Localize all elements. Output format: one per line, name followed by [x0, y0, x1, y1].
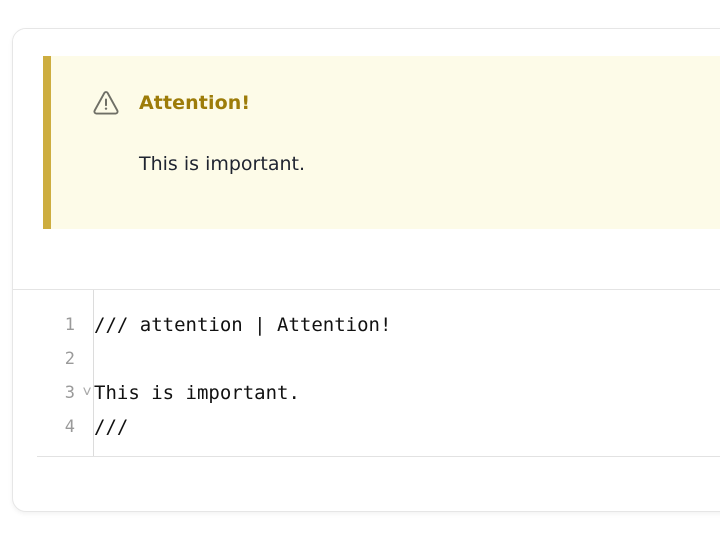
code-scroll-area[interactable]: 1 /// attention | Attention! 2 3 ˅ — [13, 290, 720, 456]
code-line-text: /// attention | Attention! — [81, 308, 391, 342]
line-number: 1 — [65, 315, 75, 335]
code-line-row[interactable]: 2 — [13, 342, 720, 376]
chevron-down-icon[interactable]: ˅ — [81, 387, 93, 399]
line-gutter: 4 — [13, 410, 81, 444]
line-gutter: 1 — [13, 308, 81, 342]
warning-triangle-icon — [91, 88, 121, 118]
line-number: 4 — [65, 417, 75, 437]
line-gutter: 2 — [13, 342, 81, 376]
example-card: Attention! This is important. 1 /// atte… — [12, 28, 720, 512]
line-number: 2 — [65, 349, 75, 369]
line-gutter: 3 ˅ — [13, 376, 81, 410]
line-number: 3 — [65, 383, 75, 403]
code-line-row[interactable]: 3 ˅ This is important. — [13, 376, 720, 410]
admonition-title-row: Attention! — [91, 88, 250, 118]
screenshot-stage: Attention! This is important. 1 /// atte… — [0, 0, 720, 544]
attention-admonition: Attention! This is important. — [43, 56, 720, 229]
code-line-text: /// — [81, 410, 128, 444]
code-line-row[interactable]: 1 /// attention | Attention! — [13, 308, 720, 342]
code-lines: 1 /// attention | Attention! 2 3 ˅ — [13, 308, 720, 444]
admonition-title: Attention! — [139, 92, 250, 114]
code-line-text: This is important. — [81, 376, 300, 410]
code-line-row[interactable]: 4 /// — [13, 410, 720, 444]
admonition-body-text: This is important. — [139, 153, 305, 175]
code-block-bottom-rule — [37, 456, 720, 457]
rendered-preview-region: Attention! This is important. — [13, 29, 720, 289]
source-code-region[interactable]: 1 /// attention | Attention! 2 3 ˅ — [13, 290, 720, 456]
gutter-separator-rule — [93, 290, 94, 457]
